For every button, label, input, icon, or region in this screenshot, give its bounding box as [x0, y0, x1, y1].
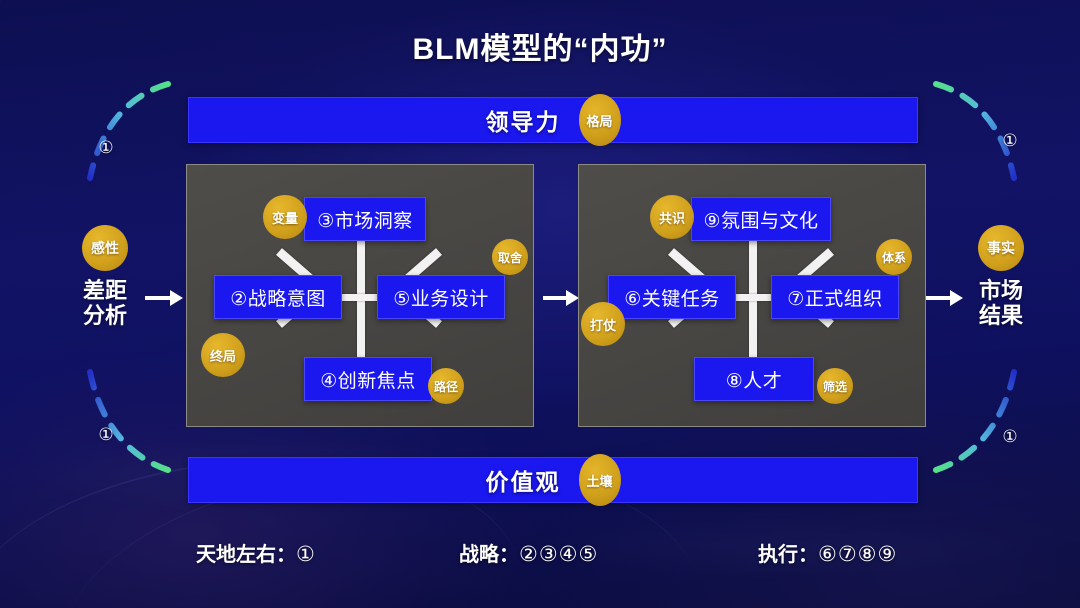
badge-bianliang: 变量 [263, 195, 307, 239]
footer-label-execution: 执行： [758, 544, 818, 566]
footer-label-tiandi: 天地左右： [196, 544, 296, 566]
left-side-label: 差距 分析 [68, 279, 142, 328]
slide-canvas: BLM模型的“内功” [0, 0, 1080, 608]
arrow-execution-to-right [925, 288, 963, 308]
footer-item-strategy: 战略：②③④⑤ [459, 538, 598, 567]
right-side-label: 市场 结果 [964, 279, 1038, 328]
connector-vertical-center [357, 237, 365, 367]
node-market-insight[interactable]: ③市场洞察 [304, 197, 426, 241]
node-business-design[interactable]: ⑤业务设计 [377, 275, 505, 319]
badge-right-shishi: 事实 [978, 225, 1024, 271]
badge-left-ganxing: 感性 [82, 225, 128, 271]
node-talent[interactable]: ⑧人才 [694, 357, 814, 401]
badge-turang: 土壤 [579, 454, 621, 506]
arrow-strategy-to-execution [543, 288, 579, 308]
right-side-label-line1: 市场 [979, 278, 1023, 303]
badge-tixi: 体系 [876, 239, 912, 275]
node-formal-organization[interactable]: ⑦正式组织 [771, 275, 899, 319]
arrow-left-to-strategy [145, 288, 183, 308]
page-title: BLM模型的“内功” [0, 24, 1080, 68]
node-key-tasks[interactable]: ⑥关键任务 [608, 275, 736, 319]
leadership-band[interactable]: 领导力 格局 [188, 97, 918, 143]
badge-gongshi: 共识 [650, 195, 694, 239]
left-side-label-line2: 分析 [83, 303, 127, 328]
left-side-label-line1: 差距 [83, 278, 127, 303]
badge-dazhang: 打仗 [581, 302, 625, 346]
arc-marker-right-bottom: ① [998, 425, 1022, 449]
badge-zhongju: 终局 [201, 333, 245, 377]
right-side-label-line2: 结果 [979, 303, 1023, 328]
badge-qushe: 取舍 [492, 239, 528, 275]
arc-marker-right-top: ① [998, 129, 1022, 153]
connector-vertical-center [749, 237, 757, 367]
footer-nums-tiandi: ① [296, 543, 316, 566]
footer-item-execution: 执行：⑥⑦⑧⑨ [758, 538, 897, 567]
arc-marker-left-top: ① [94, 136, 118, 160]
footer: 天地左右：① 战略：②③④⑤ 执行：⑥⑦⑧⑨ [0, 534, 1080, 574]
arc-marker-left-bottom: ① [94, 423, 118, 447]
values-band[interactable]: 价值观 土壤 [188, 457, 918, 503]
values-band-label: 价值观 [486, 463, 561, 497]
footer-nums-strategy: ②③④⑤ [519, 543, 598, 566]
node-strategic-intent[interactable]: ②战略意图 [214, 275, 342, 319]
node-atmosphere-culture[interactable]: ⑨氛围与文化 [691, 197, 831, 241]
badge-lujing: 路径 [428, 368, 464, 404]
strategy-panel: ③市场洞察 ②战略意图 ⑤业务设计 ④创新焦点 变量 取舍 终局 路径 [186, 164, 534, 427]
footer-nums-execution: ⑥⑦⑧⑨ [818, 543, 897, 566]
footer-label-strategy: 战略： [459, 544, 519, 566]
node-innovation-focus[interactable]: ④创新焦点 [304, 357, 432, 401]
badge-geju: 格局 [579, 94, 621, 146]
leadership-band-label: 领导力 [486, 103, 561, 137]
badge-shaixuan: 筛选 [817, 368, 853, 404]
execution-panel: ⑨氛围与文化 ⑥关键任务 ⑦正式组织 ⑧人才 共识 体系 打仗 筛选 [578, 164, 926, 427]
footer-item-tiandi: 天地左右：① [196, 538, 316, 567]
